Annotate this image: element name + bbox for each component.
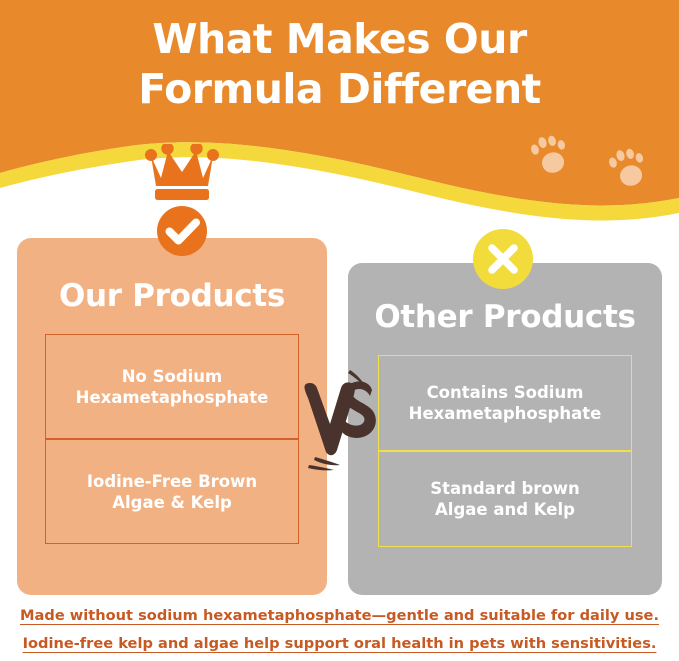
footer-note-line-1: Made without sodium hexametaphosphate—ge… — [0, 602, 679, 630]
footer-notes: Made without sodium hexametaphosphate—ge… — [0, 602, 679, 658]
crown-icon — [145, 144, 219, 200]
our-products-heading: Our Products — [17, 278, 327, 314]
page-title-line-1: What Makes Our — [0, 14, 679, 64]
other-products-card: Other Products Contains Sodium Hexametap… — [348, 263, 662, 595]
feature-line-1: Iodine-Free Brown — [87, 472, 257, 491]
feature-line-2: Hexametaphosphate — [409, 404, 602, 423]
footer-note-line-2: Iodine-free kelp and algae help support … — [0, 630, 679, 658]
feature-line-2: Algae & Kelp — [112, 493, 232, 512]
feature-line-1: Contains Sodium — [427, 383, 584, 402]
feature-line-1: Standard brown — [430, 479, 580, 498]
feature-item: No Sodium Hexametaphosphate — [45, 334, 299, 439]
versus-mark — [300, 362, 384, 474]
crown-check-icon — [136, 144, 228, 256]
other-products-heading: Other Products — [348, 299, 662, 335]
our-products-badge — [136, 144, 228, 256]
our-products-feature-list: No Sodium Hexametaphosphate Iodine-Free … — [45, 334, 299, 544]
header-banner: What Makes Our Formula Different — [0, 0, 679, 265]
page-title: What Makes Our Formula Different — [0, 14, 679, 114]
other-products-badge — [472, 228, 534, 290]
feature-item: Standard brown Algae and Kelp — [378, 451, 632, 547]
check-circle-icon — [157, 206, 207, 256]
infographic-canvas: What Makes Our Formula Different Our Pro… — [0, 0, 679, 661]
page-title-line-2: Formula Different — [0, 64, 679, 114]
feature-item: Iodine-Free Brown Algae & Kelp — [45, 439, 299, 544]
feature-item: Contains Sodium Hexametaphosphate — [378, 355, 632, 451]
feature-line-1: No Sodium — [122, 367, 223, 386]
feature-line-2: Hexametaphosphate — [76, 388, 269, 407]
feature-line-2: Algae and Kelp — [435, 500, 575, 519]
our-products-card: Our Products No Sodium Hexametaphosphate… — [17, 238, 327, 595]
other-products-feature-list: Contains Sodium Hexametaphosphate Standa… — [378, 355, 632, 547]
vs-brush-icon — [300, 362, 384, 474]
x-circle-icon — [472, 228, 534, 290]
